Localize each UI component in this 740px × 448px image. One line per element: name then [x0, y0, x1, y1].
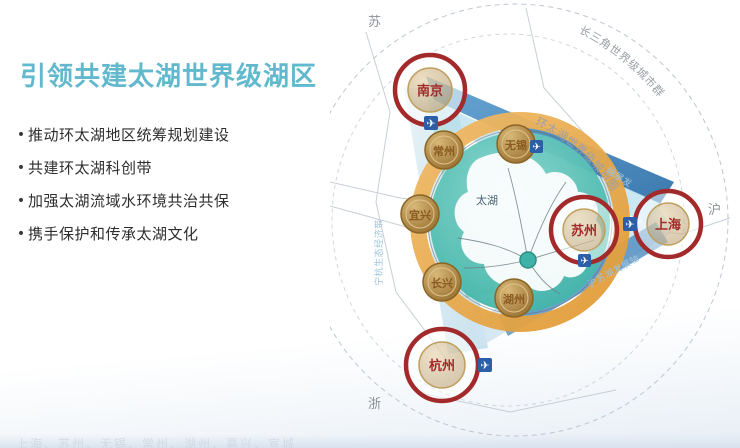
list-item: • 携手保护和传承太湖文化	[14, 223, 354, 245]
city-label: 常州	[433, 144, 455, 158]
svg-text:✈: ✈	[426, 117, 435, 130]
lake-center-node	[520, 252, 536, 268]
bottom-cropped-text: 上海、苏州、无锡、常州、湖州、嘉兴、宣城	[16, 435, 296, 448]
svg-text:✈: ✈	[580, 256, 588, 267]
bullet-marker: •	[14, 223, 28, 245]
bullet-marker: •	[14, 124, 28, 146]
svg-text:✈: ✈	[625, 218, 634, 231]
city-label: 湖州	[503, 292, 525, 306]
list-item: • 加强太湖流域水环境共治共保	[14, 190, 354, 212]
svg-text:✈: ✈	[532, 142, 540, 153]
airport-icon: ✈	[530, 140, 543, 153]
city-label: 南京	[417, 83, 443, 99]
city-label: 宜兴	[409, 208, 431, 222]
vertical-arc-label: 宁杭生态经济带	[373, 219, 385, 286]
bullet-marker: •	[14, 190, 28, 212]
text-column: 引领共建太湖世界级湖区 • 推动环太湖地区统筹规划建设 • 共建环太湖科创带 •…	[0, 0, 360, 448]
slide-root: 引领共建太湖世界级湖区 • 推动环太湖地区统筹规划建设 • 共建环太湖科创带 •…	[0, 0, 740, 448]
taihu-region-diagram: 太湖 长三角世界级城市群 环太湖世界级城市圈 沪苏湖发展轴 宁杭生态经济带 轴展…	[330, 0, 740, 448]
city-node-suzhou[interactable]: 苏州 ✈	[551, 197, 617, 267]
bullet-text: 加强太湖流域水环境共治共保	[28, 190, 230, 212]
svg-text:✈: ✈	[480, 359, 489, 372]
bullet-text: 携手保护和传承太湖文化	[28, 223, 199, 245]
city-label: 苏州	[571, 223, 597, 239]
bullet-marker: •	[14, 157, 28, 179]
airport-icon: ✈	[478, 358, 492, 372]
list-item: • 共建环太湖科创带	[14, 157, 354, 179]
province-label-hu: 沪	[708, 202, 721, 218]
city-label: 无锡	[504, 138, 527, 152]
lake-label: 太湖	[476, 194, 498, 207]
page-title: 引领共建太湖世界级湖区	[20, 56, 317, 93]
province-label-su: 苏	[368, 14, 381, 30]
city-node-huzhou[interactable]: 湖州	[495, 279, 533, 317]
city-node-changxing[interactable]: 长兴	[423, 263, 461, 301]
bullet-list: • 推动环太湖地区统筹规划建设 • 共建环太湖科创带 • 加强太湖流域水环境共治…	[14, 124, 354, 256]
city-label: 杭州	[429, 358, 455, 374]
city-node-yixing[interactable]: 宜兴	[401, 195, 439, 233]
airport-icon: ✈	[623, 217, 637, 231]
list-item: • 推动环太湖地区统筹规划建设	[14, 124, 354, 146]
bullet-text: 共建环太湖科创带	[28, 157, 152, 179]
airport-icon: ✈	[424, 116, 438, 130]
city-label: 长兴	[431, 276, 453, 290]
city-label: 上海	[655, 217, 681, 233]
airport-icon: ✈	[578, 254, 591, 267]
bullet-text: 推动环太湖地区统筹规划建设	[28, 124, 230, 146]
city-node-changzhou[interactable]: 常州	[425, 131, 463, 169]
outer-arc-label: 长三角世界级城市群	[577, 23, 667, 99]
province-label-zhe: 浙	[368, 397, 381, 412]
